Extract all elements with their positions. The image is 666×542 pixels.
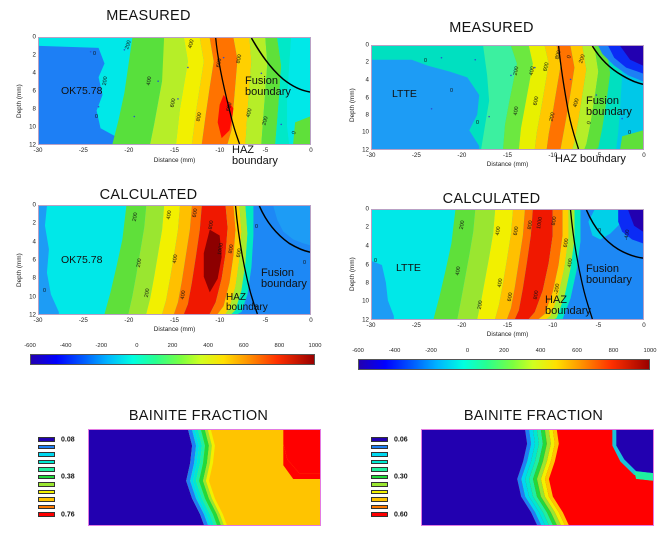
contour-label: 800 <box>208 220 215 230</box>
contour-label: 800 <box>236 54 244 64</box>
legend-swatch <box>38 505 55 510</box>
x-axis-label: Distance (mm) <box>38 326 311 333</box>
contour-label: 200 <box>549 112 557 122</box>
contour-label: 0 <box>303 260 306 266</box>
contour-label: 800 <box>533 290 540 300</box>
contour-label: 200 <box>477 300 484 310</box>
fusion-boundary-line1: Fusion <box>245 75 278 87</box>
contour-label: 1000 <box>217 243 225 256</box>
bainite-map-ok7578 <box>88 429 321 526</box>
legend-swatch <box>38 475 55 480</box>
panel-calculated-left: CALCULATED <box>0 185 333 340</box>
x-tick: -5 <box>263 317 269 324</box>
x-tick: -15 <box>503 152 512 159</box>
colorbar-tick: 800 <box>609 348 619 354</box>
contour-label: 400 <box>497 278 504 288</box>
y-tick: 8 <box>33 275 36 282</box>
colorbar-gradient <box>30 354 315 365</box>
colorbar-right: -600 -400 -200 0 200 400 600 800 1000 <box>358 348 650 372</box>
x-tick: -25 <box>412 152 421 159</box>
fusion-boundary-line1: Fusion <box>586 263 619 275</box>
contour-label: 400 <box>529 66 537 76</box>
y-tick: 4 <box>366 76 369 83</box>
contour-label: 800 <box>551 216 558 226</box>
contour-label: 400 <box>166 210 173 220</box>
y-tick: 0 <box>366 42 369 49</box>
x-tick: -30 <box>34 317 43 324</box>
haz-boundary-line2: boundary <box>226 302 268 313</box>
x-tick: -10 <box>215 317 224 324</box>
colorbar-tick: -400 <box>389 348 401 354</box>
panel-calculated-right: CALCULATED <box>333 185 666 340</box>
haz-boundary-line1: HAZ <box>232 144 254 156</box>
legend-swatch <box>371 437 388 442</box>
colorbar-tick: -200 <box>425 348 437 354</box>
contour-label: 0 <box>93 51 96 57</box>
contour-label: 400 <box>180 290 187 300</box>
panel-bainite-left: BAINITE FRACTION 0.08 0.38 0.76 <box>0 400 333 542</box>
legend-swatch <box>371 475 388 480</box>
colorbar-tick: 200 <box>168 343 178 349</box>
x-tick: -30 <box>34 147 43 154</box>
colorbar-tick: 0 <box>466 348 469 354</box>
y-tick: 4 <box>33 238 36 245</box>
y-tick: 6 <box>366 94 369 101</box>
panel-title: MEASURED <box>325 20 658 36</box>
fusion-boundary-label: Fusion boundary <box>245 76 291 98</box>
panel-title: MEASURED <box>0 8 315 24</box>
fusion-boundary-line2: boundary <box>261 278 307 290</box>
x-tick: 0 <box>642 322 645 329</box>
contour-label: 600 <box>226 102 234 112</box>
panel-title: CALCULATED <box>0 187 315 203</box>
contour-label: 0 <box>43 288 46 294</box>
legend-swatch <box>38 490 55 495</box>
contour-label: 0 <box>450 88 453 94</box>
contour-label: 200 <box>144 288 151 298</box>
colorbar-tick: 1000 <box>309 343 322 349</box>
contour-label: 1000 <box>536 217 544 230</box>
fusion-boundary-label: Fusion boundary <box>586 264 632 286</box>
colorbar-tick: 200 <box>499 348 509 354</box>
x-tick: -10 <box>215 147 224 154</box>
contour-label: 600 <box>236 248 243 258</box>
legend-swatch <box>371 460 388 465</box>
contour-plot-measured-ltte: 200 400 600 800 0 200 400 600 200 400 0 … <box>371 45 644 150</box>
y-axis-label: Depth (mm) <box>16 84 23 118</box>
x-tick: -15 <box>170 317 179 324</box>
contour-label: 600 <box>507 292 514 302</box>
contour-label: 800 <box>527 220 534 230</box>
haz-boundary-line1: HAZ <box>545 294 567 306</box>
colorbar-tick: -200 <box>95 343 107 349</box>
contour-label: 0 <box>628 130 631 136</box>
panel-title: CALCULATED <box>325 191 658 207</box>
legend-swatch <box>38 460 55 465</box>
y-axis-label: Depth (mm) <box>16 253 23 287</box>
legend-swatch <box>38 445 55 450</box>
y-tick: 6 <box>366 261 369 268</box>
contour-label: 200 <box>513 66 521 76</box>
colorbar-tick: 400 <box>203 343 213 349</box>
y-tick: 8 <box>366 111 369 118</box>
fusion-boundary-line1: Fusion <box>261 267 294 279</box>
contour-label: 800 <box>196 112 204 122</box>
colorbar-tick: 0 <box>135 343 138 349</box>
y-tick: 8 <box>33 105 36 112</box>
y-axis-label: Depth (mm) <box>349 257 356 291</box>
legend-swatch <box>38 497 55 502</box>
legend-swatch <box>371 452 388 457</box>
haz-boundary-label: HAZ boundary <box>232 145 278 167</box>
y-tick: 8 <box>366 279 369 286</box>
contour-label: 0 <box>255 224 258 230</box>
x-tick: -20 <box>457 322 466 329</box>
contour-label: 400 <box>187 39 195 49</box>
material-label-ok7578: OK75.78 <box>61 85 102 97</box>
contour-label: 400 <box>455 266 462 276</box>
y-axis-label: Depth (mm) <box>349 88 356 122</box>
contour-label: 400 <box>146 76 153 86</box>
haz-boundary-label: HAZ boundary <box>555 154 626 165</box>
contour-label: 400 <box>495 226 502 236</box>
legend-swatch <box>371 482 388 487</box>
contour-plot-calculated-ltte: 200 400 600 800 1000 800 600 400 400 400… <box>371 209 644 320</box>
colorbar-tick: 1000 <box>644 348 657 354</box>
contour-label: 400 <box>567 258 574 268</box>
fusion-boundary-label: Fusion boundary <box>586 96 632 118</box>
y-tick: 6 <box>33 88 36 95</box>
x-tick: 0 <box>309 317 312 324</box>
contour-label: 600 <box>513 226 520 236</box>
haz-boundary-line2: boundary <box>232 155 278 167</box>
contour-label: 400 <box>513 106 520 116</box>
legend-label-mid: 0.38 <box>61 474 75 481</box>
legend-label-high: 0.76 <box>61 512 75 519</box>
colorbar-tick: 400 <box>536 348 546 354</box>
x-tick: -15 <box>170 147 179 154</box>
fusion-boundary-line2: boundary <box>245 86 291 98</box>
y-tick: 0 <box>366 206 369 213</box>
contour-label: 0 <box>476 120 479 126</box>
contour-label: 600 <box>216 58 224 68</box>
contour-label: 200 <box>132 212 139 222</box>
x-tick: -5 <box>596 322 602 329</box>
legend-swatch <box>38 467 55 472</box>
legend-label-high: 0.60 <box>394 512 408 519</box>
contour-label: 200 <box>261 116 269 126</box>
colorbar-gradient <box>358 359 650 370</box>
y-tick: 4 <box>366 242 369 249</box>
colorbar-tick: -600 <box>24 343 36 349</box>
y-tick: 2 <box>33 220 36 227</box>
contour-plot-calculated-ok: 200 400 600 800 1000 800 600 400 200 200… <box>38 205 311 315</box>
legend-swatch <box>371 490 388 495</box>
contour-label: 400 <box>172 254 179 264</box>
material-label-ltte: LTTE <box>392 88 417 100</box>
material-label-ok7578: OK75.78 <box>61 254 102 266</box>
contour-label: 600 <box>533 96 541 106</box>
legend-swatch <box>371 445 388 450</box>
x-tick: -20 <box>124 317 133 324</box>
contour-label: 0 <box>374 258 377 264</box>
x-axis-label: Distance (mm) <box>371 331 644 338</box>
haz-boundary-label: HAZ boundary <box>545 295 591 317</box>
legend-label-low: 0.06 <box>394 437 408 444</box>
y-tick: 10 <box>362 129 369 136</box>
bainite-map-ltte <box>421 429 654 526</box>
x-tick: -25 <box>79 147 88 154</box>
panel-measured-right: MEASURED <box>333 0 666 185</box>
contour-label: 800 <box>554 50 562 60</box>
panel-bainite-right: BAINITE FRACTION 0.06 0.30 0.60 <box>333 400 666 542</box>
contour-label: 0 <box>586 121 593 126</box>
contour-label: 600 <box>543 62 551 72</box>
x-tick: 0 <box>642 152 645 159</box>
contour-label: 200 <box>124 40 132 50</box>
legend-swatch <box>371 467 388 472</box>
contour-label: 0 <box>95 114 98 120</box>
y-tick: 2 <box>33 51 36 58</box>
contour-label: 600 <box>563 238 570 248</box>
fusion-boundary-line2: boundary <box>586 106 632 118</box>
legend-swatch <box>38 512 55 517</box>
contour-label: 200 <box>102 76 109 86</box>
x-tick: -25 <box>79 317 88 324</box>
legend-swatch <box>38 452 55 457</box>
contour-label: -400 <box>624 229 632 241</box>
x-tick: -20 <box>124 147 133 154</box>
x-tick: 0 <box>309 147 312 154</box>
y-tick: 10 <box>29 293 36 300</box>
contour-label: 800 <box>228 244 235 254</box>
x-tick: -25 <box>412 322 421 329</box>
panel-title: BAINITE FRACTION <box>367 408 666 424</box>
contour-label: 600 <box>192 208 199 218</box>
legend-label-low: 0.08 <box>61 437 75 444</box>
contour-label: 0 <box>291 131 298 136</box>
fusion-boundary-label: Fusion boundary <box>261 268 307 290</box>
contour-label: 200 <box>578 54 586 64</box>
contour-label: 600 <box>170 98 178 108</box>
colorbar-tick: -400 <box>60 343 72 349</box>
legend-label-mid: 0.30 <box>394 474 408 481</box>
bainite-fill-ok <box>89 430 320 525</box>
y-tick: 10 <box>29 123 36 130</box>
y-tick: 2 <box>366 59 369 66</box>
legend-swatch <box>371 512 388 517</box>
legend-swatch <box>371 497 388 502</box>
legend-swatch <box>371 505 388 510</box>
colorbar-tick: -600 <box>352 348 364 354</box>
x-tick: -15 <box>503 322 512 329</box>
contour-label: 400 <box>246 108 254 118</box>
x-tick: -20 <box>457 152 466 159</box>
contour-label: 0 <box>598 228 601 234</box>
colorbar-left: -600 -400 -200 0 200 400 600 800 1000 <box>30 343 315 367</box>
material-label-ltte: LTTE <box>396 262 421 274</box>
fusion-boundary-line2: boundary <box>586 274 632 286</box>
colorbar-tick: 600 <box>572 348 582 354</box>
contour-plot-measured-ok: 200 400 600 800 200 400 600 800 600 400 … <box>38 37 311 145</box>
legend-swatch <box>38 437 55 442</box>
colorbar-tick: 800 <box>275 343 285 349</box>
y-tick: 6 <box>33 257 36 264</box>
x-tick: -10 <box>548 322 557 329</box>
haz-boundary-label: HAZ boundary <box>226 293 268 313</box>
bainite-fill-ltte <box>422 430 653 525</box>
x-tick: -30 <box>367 322 376 329</box>
y-tick: 10 <box>362 298 369 305</box>
contour-label: 200 <box>459 220 466 230</box>
contour-label: 400 <box>572 98 580 108</box>
panel-title: BAINITE FRACTION <box>32 408 365 424</box>
colorbar-tick: 600 <box>239 343 249 349</box>
contour-label: 0 <box>566 55 573 60</box>
y-tick: 4 <box>33 69 36 76</box>
y-tick: 0 <box>33 34 36 41</box>
x-tick: -30 <box>367 152 376 159</box>
contour-label: 200 <box>136 258 143 268</box>
y-tick: 0 <box>33 202 36 209</box>
y-tick: 2 <box>366 224 369 231</box>
fusion-boundary-line1: Fusion <box>586 95 619 107</box>
contour-label: 0 <box>424 58 427 64</box>
legend-swatch <box>38 482 55 487</box>
haz-boundary-line2: boundary <box>545 305 591 317</box>
panel-measured-left: MEASURED <box>0 0 333 185</box>
